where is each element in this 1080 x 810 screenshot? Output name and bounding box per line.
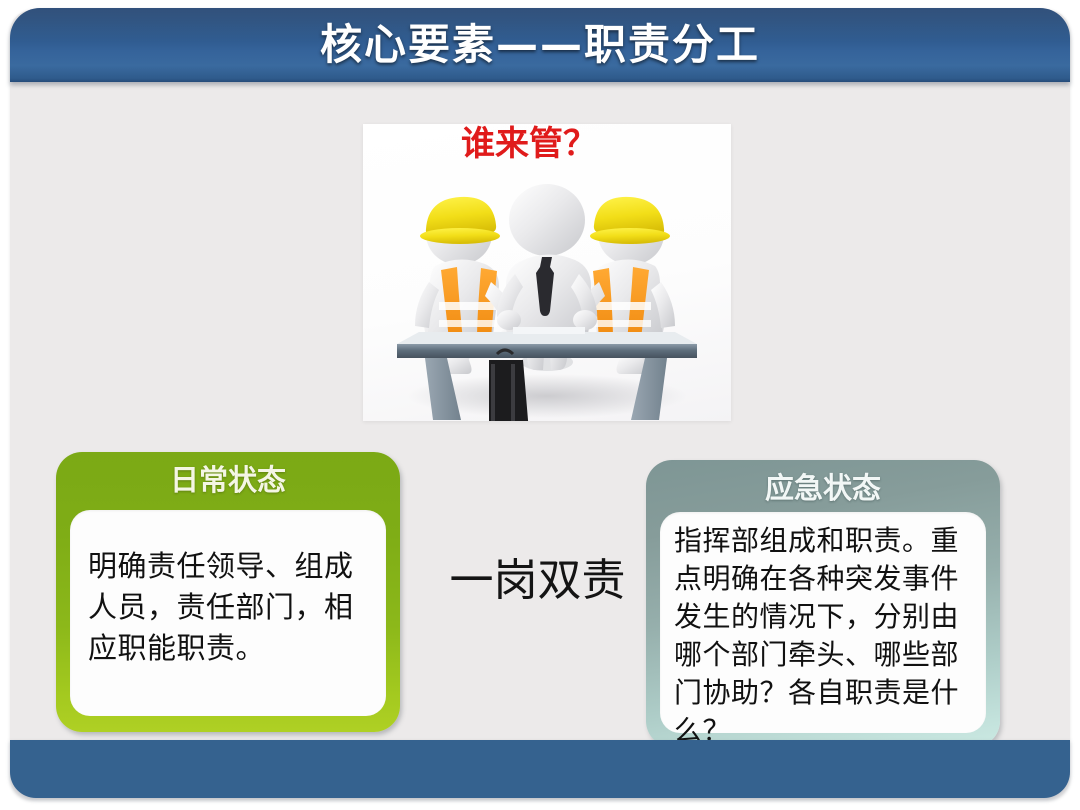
presentation-slide: 核心要素——职责分工 — [0, 0, 1080, 810]
panel-emergency-state: 应急状态 指挥部组成和职责。重点明确在各种突发事件发生的情况下，分别由哪个部门牵… — [646, 460, 1000, 747]
panel-emergency-body-card: 指挥部组成和职责。重点明确在各种突发事件发生的情况下，分别由哪个部门牵头、哪些部… — [660, 512, 986, 733]
meeting-scene-graphic — [363, 124, 731, 421]
panel-emergency-body-text: 指挥部组成和职责。重点明确在各种突发事件发生的情况下，分别由哪个部门牵头、哪些部… — [674, 522, 976, 747]
panel-daily-state: 日常状态 明确责任领导、组成人员，责任部门，相应职能职责。 — [56, 452, 400, 732]
panel-daily-body-text: 明确责任领导、组成人员，责任部门，相应职能职责。 — [88, 546, 372, 669]
panel-daily-header: 日常状态 — [56, 452, 400, 508]
illustration-caption: 谁来管？ — [363, 124, 731, 166]
briefcase — [489, 350, 529, 421]
illustration-image: 谁来管？ — [363, 124, 731, 421]
slide-footer-bar — [10, 740, 1070, 798]
centre-slogan: 一岗双责 — [430, 552, 645, 610]
slide-title: 核心要素——职责分工 — [10, 16, 1070, 74]
slide-header-banner: 核心要素——职责分工 — [10, 8, 1070, 82]
panel-daily-body-card: 明确责任领导、组成人员，责任部门，相应职能职责。 — [70, 510, 386, 716]
panel-emergency-header: 应急状态 — [646, 460, 1000, 516]
